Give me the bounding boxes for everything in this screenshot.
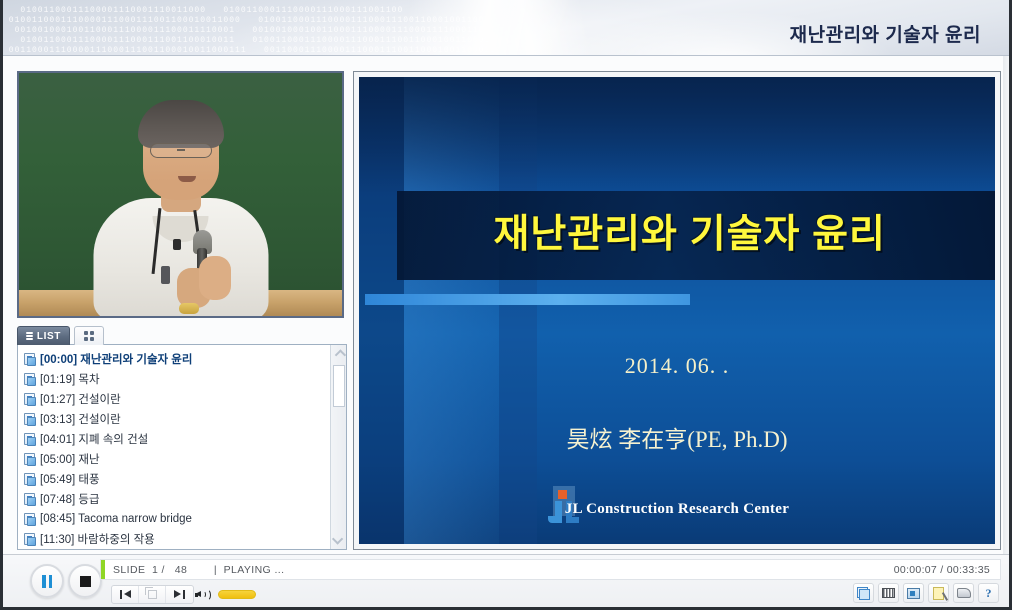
- help-icon: ?: [986, 586, 992, 601]
- list-item-label: [01:27] 건설이란: [40, 391, 121, 407]
- time-display: 00:00:07 / 00:33:35: [894, 564, 1000, 576]
- print-button[interactable]: [953, 583, 974, 603]
- scroll-up-icon[interactable]: [331, 347, 347, 363]
- slide-doc-icon: [24, 493, 35, 505]
- layers-button[interactable]: [853, 583, 874, 603]
- list-item[interactable]: [05:49] 태풍: [22, 469, 331, 489]
- stop-button[interactable]: [68, 564, 102, 598]
- next-icon: [174, 590, 185, 599]
- slide-doc-icon: [24, 373, 35, 385]
- tab-list-label: LIST: [37, 331, 61, 342]
- slide-canvas: 재난관리와 기술자 윤리 2014. 06. . 昊炫 李在亨(PE, Ph.D…: [359, 77, 995, 544]
- transmitter-badge: [161, 266, 170, 284]
- screen-button[interactable]: [903, 583, 924, 603]
- slide-doc-icon: [24, 453, 35, 465]
- note-button[interactable]: [928, 583, 949, 603]
- slide-doc-icon: [24, 513, 35, 525]
- pause-button[interactable]: [30, 564, 64, 598]
- lecture-video[interactable]: [17, 71, 344, 318]
- slide-accent-bar: [365, 294, 689, 305]
- playlist-tabbar: LIST: [17, 326, 347, 345]
- slide-footer: JL Construction Research Center: [359, 501, 995, 518]
- previous-icon: [120, 590, 131, 599]
- status-bar: SLIDE 1 / 48 | PLAYING ... 00:00:07 / 00…: [100, 559, 1001, 580]
- slide-author: 昊炫 李在亨(PE, Ph.D): [359, 420, 995, 454]
- list-item-label: [11:30] 바람하중의 작용: [40, 531, 155, 547]
- tab-grid[interactable]: [74, 326, 104, 345]
- slide-doc-icon: [24, 473, 35, 485]
- slide-doc-icon: [24, 393, 35, 405]
- list-item[interactable]: [00:00] 재난관리와 기술자 윤리: [22, 349, 331, 369]
- stop-icon: [80, 576, 91, 587]
- printer-icon: [957, 588, 971, 598]
- scroll-down-icon[interactable]: [331, 531, 347, 547]
- tool-icon-group: ?: [853, 583, 999, 603]
- screen-icon: [907, 588, 920, 599]
- list-icon: [26, 332, 33, 339]
- film-icon: [882, 588, 895, 598]
- slide-doc-icon: [24, 413, 35, 425]
- list-item[interactable]: [08:45] Tacoma narrow bridge: [22, 509, 331, 529]
- repeat-icon: [148, 590, 157, 599]
- player-window: 01001100011100001110001110011000 0100110…: [0, 0, 1012, 610]
- help-button[interactable]: ?: [978, 583, 999, 603]
- wristwatch: [179, 303, 199, 314]
- note-icon: [933, 587, 944, 600]
- list-item[interactable]: [11:30] 바람하중의 작용: [22, 529, 331, 549]
- repeat-button[interactable]: [139, 586, 166, 603]
- scrollbar-thumb[interactable]: [333, 365, 345, 407]
- transport-controls: [111, 585, 194, 604]
- slide-date: 2014. 06. .: [359, 353, 995, 379]
- list-item[interactable]: [01:19] 목차: [22, 369, 331, 389]
- list-item-label: [05:49] 태풍: [40, 471, 100, 487]
- list-item[interactable]: [01:27] 건설이란: [22, 389, 331, 409]
- volume-slider[interactable]: [218, 590, 256, 599]
- next-button[interactable]: [166, 586, 193, 603]
- slide-doc-icon: [24, 533, 35, 545]
- lapel-mic-clip: [173, 239, 181, 250]
- app-header: 01001100011100001110001110011000 0100110…: [3, 0, 1009, 56]
- list-item-label: [04:01] 지폐 속의 건설: [40, 431, 148, 447]
- playlist-scrollbar[interactable]: [330, 345, 346, 549]
- list-item-label: [07:48] 등급: [40, 491, 100, 507]
- list-item[interactable]: [04:01] 지폐 속의 건설: [22, 429, 331, 449]
- page-title: 재난관리와 기술자 윤리: [790, 20, 981, 47]
- status-text: SLIDE 1 / 48 | PLAYING ...: [105, 564, 284, 576]
- list-item-label: [01:19] 목차: [40, 371, 100, 387]
- slide-title: 재난관리와 기술자 윤리: [416, 203, 963, 259]
- speaker-icon[interactable]: [195, 588, 211, 601]
- right-edge-sliver: [1003, 56, 1009, 554]
- slide-doc-icon: [24, 353, 35, 365]
- playlist-panel: [00:00] 재난관리와 기술자 윤리 [01:19] 목차 [01:27] …: [17, 344, 347, 550]
- list-item-label: [03:13] 건설이란: [40, 411, 121, 427]
- speaker-hand-right: [199, 256, 231, 300]
- previous-button[interactable]: [112, 586, 139, 603]
- list-item[interactable]: [07:48] 등급: [22, 489, 331, 509]
- filmstrip-button[interactable]: [878, 583, 899, 603]
- grid-icon: [84, 331, 94, 341]
- pause-icon: [42, 575, 52, 588]
- speaker-glasses: [150, 143, 212, 158]
- volume-control[interactable]: [195, 585, 256, 604]
- tab-list[interactable]: LIST: [17, 326, 70, 345]
- list-item[interactable]: [03:13] 건설이란: [22, 409, 331, 429]
- slide-viewer[interactable]: 재난관리와 기술자 윤리 2014. 06. . 昊炫 李在亨(PE, Ph.D…: [353, 71, 1001, 550]
- speaker-hair: [138, 100, 224, 148]
- player-controls-bar: SLIDE 1 / 48 | PLAYING ... 00:00:07 / 00…: [3, 554, 1009, 607]
- list-item-label: [08:45] Tacoma narrow bridge: [40, 513, 192, 525]
- list-item-label: [05:00] 재난: [40, 451, 100, 467]
- list-item-label: [00:00] 재난관리와 기술자 윤리: [40, 351, 192, 367]
- slide-doc-icon: [24, 433, 35, 445]
- layers-icon: [857, 587, 870, 600]
- playlist-items: [00:00] 재난관리와 기술자 윤리 [01:19] 목차 [01:27] …: [18, 345, 331, 549]
- slide-top-shade: [359, 77, 995, 194]
- list-item[interactable]: [05:00] 재난: [22, 449, 331, 469]
